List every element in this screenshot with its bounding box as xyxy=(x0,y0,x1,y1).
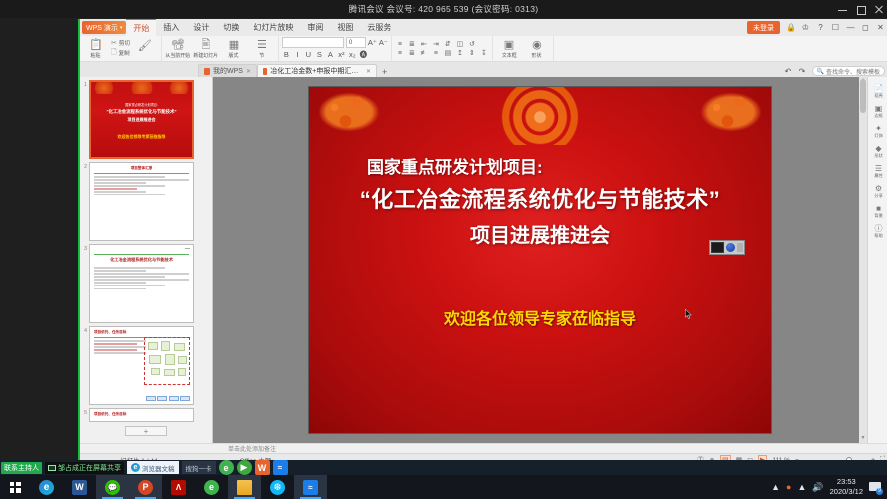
border-icon: ▣ xyxy=(875,104,883,113)
rail-item-background[interactable]: ■ 背景 xyxy=(869,204,887,219)
thumb-line xyxy=(94,273,189,274)
bold-button[interactable]: B xyxy=(282,50,291,59)
maximize-icon[interactable] xyxy=(856,5,865,14)
subscript-button[interactable]: x₂ xyxy=(348,50,357,59)
meeting-floating-video[interactable] xyxy=(709,240,745,255)
copy-label: 复制 xyxy=(119,49,130,57)
thumb-line xyxy=(94,191,146,192)
text-box-label: 文本框 xyxy=(501,51,516,58)
windows-taskbar: e W 💬 P Λ e ❆ ≈ ▲ ● ▲ 🔊 23:53 2020/3/12 xyxy=(0,475,887,499)
wps-logo[interactable]: WPS 演示 ▾ xyxy=(82,21,126,34)
cut-label: 剪切 xyxy=(119,39,130,47)
ornament-icon xyxy=(129,82,155,94)
taskbar-preview-sogou[interactable]: 搜狗一卡 xyxy=(182,461,216,474)
thumb-line xyxy=(94,270,146,271)
thumb-line xyxy=(94,188,137,189)
360browser-icon: e xyxy=(204,480,219,495)
thumb-diagram-boxes xyxy=(146,396,191,401)
tab-design[interactable]: 设计 xyxy=(186,19,216,36)
thumb-line-2: “化工冶金流程系统优化与节能技术” xyxy=(91,109,192,115)
taskbar-qq[interactable]: ❆ xyxy=(261,475,294,499)
slide-thumbnail-3[interactable]: ▬▬ 化工冶金流程系统优化与节能技术 xyxy=(89,244,194,323)
bullets-icon[interactable]: ≡ xyxy=(395,41,405,48)
taskbar-tencent-meeting[interactable]: ≈ xyxy=(294,475,327,499)
meeting-title: 腾讯会议 会议号: 420 965 539 (会议密码: 0313) xyxy=(349,3,539,15)
meeting-window-controls xyxy=(838,0,883,18)
text-box-icon: ▣ xyxy=(504,39,514,51)
taskbar-edge[interactable]: e xyxy=(30,475,63,499)
thumbnail-row: 2 项目整体汇报 xyxy=(80,159,212,241)
thumb-line-3: 项目进展推进会 xyxy=(91,117,192,123)
thumb-white-slide: 项目依托、任务目标 xyxy=(90,409,193,421)
restore-icon[interactable]: ☐ xyxy=(831,23,840,32)
wps-main-area: 1 国家重点研发计划项目: “化工冶金流程系统优化与节能技术” 项目进展推进会 … xyxy=(80,77,887,443)
paste-icon: 📋 xyxy=(89,39,103,51)
align-left-icon[interactable]: ≡ xyxy=(395,50,405,57)
doc-tab-label: 冶化工冶金数+申报中期汇报20180324.ppt xyxy=(270,66,363,76)
tab-start[interactable]: 开始 xyxy=(126,19,156,36)
start-button[interactable] xyxy=(0,475,30,499)
divider xyxy=(94,254,189,255)
thumb-line xyxy=(94,176,165,177)
thumb-line xyxy=(94,346,146,347)
system-tray: ▲ ● ▲ 🔊 23:53 2020/3/12 9 xyxy=(771,477,887,497)
tencent-meeting-window: 腾讯会议 会议号: 420 965 539 (会议密码: 0313) WPS 演… xyxy=(0,0,887,460)
decoration-icon: ✦ xyxy=(875,124,882,133)
paragraph-row-top: ≡ ≣ ⇤ ⇥ ⇵ ◫ ↺ xyxy=(395,40,489,48)
ribbon-group-drawing: ▣ 文本框 ◉ 形状 xyxy=(493,36,554,62)
rail-label: 分享 xyxy=(874,193,882,199)
scrollbar-thumb[interactable] xyxy=(860,79,866,113)
thumb-white-slide: ▬▬ 化工冶金流程系统优化与节能技术 xyxy=(90,245,193,322)
font-controls: 0 A⁺ A⁻ B I U S A x² x₂ 🅐 xyxy=(282,37,388,60)
thumb-line xyxy=(94,288,146,289)
line-spacing-icon[interactable]: ⇵ xyxy=(443,40,453,48)
copy-icon: 🗋 xyxy=(111,48,117,59)
font-row-top: 0 A⁺ A⁻ xyxy=(282,37,388,48)
rail-label: 属性 xyxy=(874,173,882,179)
decrease-indent-icon[interactable]: ⇤ xyxy=(419,40,429,48)
notes-placeholder: 单击此处添加备注 xyxy=(228,444,276,453)
wps-ribbon-tabstrip: WPS 演示 ▾ 开始 插入 设计 切换 幻灯片放映 审阅 视图 云服务 未登录… xyxy=(80,19,887,36)
rail-item-docer[interactable]: 📄 稻壳 xyxy=(869,84,887,99)
word-icon: W xyxy=(72,480,87,495)
document-tabbar: 我的WPS ✕ 冶化工冶金数+申报中期汇报20180324.ppt ✕ + ↶ … xyxy=(80,62,887,77)
justify-icon[interactable]: ≡ xyxy=(431,50,441,57)
align-middle-icon[interactable]: ⇕ xyxy=(467,49,477,57)
divider xyxy=(94,173,189,174)
slide-welcome-text[interactable]: 欢迎各位领导专家莅临指导 xyxy=(309,305,771,329)
thumb-line xyxy=(94,179,189,180)
align-top-icon[interactable]: ↥ xyxy=(455,49,465,57)
slide-scrollbar[interactable]: ▲ ▼ xyxy=(859,77,867,443)
thumb-title: 项目依托、任务目标 xyxy=(94,412,189,417)
right-tool-rail: ▲ ▼ 📄 稻壳 ▣ 边框 ✦ 灯饰 ◆ 形状 xyxy=(867,77,887,443)
taskbar-word[interactable]: W xyxy=(63,475,96,499)
thumb-corner-note: ▬▬ xyxy=(185,247,190,250)
ppt-file-icon xyxy=(263,68,267,75)
thumb-line xyxy=(94,352,146,353)
properties-icon: ☰ xyxy=(875,164,882,173)
new-slide-label: 新建幻灯片 xyxy=(194,51,219,58)
font-color-button[interactable]: A xyxy=(326,50,335,59)
copy-button[interactable]: 🗋 复制 xyxy=(111,48,130,59)
thumb-line xyxy=(94,182,146,183)
thumb-line xyxy=(94,349,137,350)
thumb-line xyxy=(94,194,165,195)
clock-time: 23:53 xyxy=(837,477,856,487)
meeting-left-filler xyxy=(0,18,78,460)
edge-icon: e xyxy=(39,480,54,495)
thumb-line xyxy=(94,282,146,283)
thumbnail-number: 5 xyxy=(82,408,89,422)
monitor-icon xyxy=(48,465,56,471)
rail-item-decoration[interactable]: ✦ 灯饰 xyxy=(869,124,887,139)
align-right-icon[interactable]: ≢ xyxy=(419,50,429,57)
video-preview xyxy=(711,242,724,253)
wps-logo-label: WPS 演示 xyxy=(86,23,118,33)
rail-label: 帮助 xyxy=(874,233,882,239)
paragraph-row-bottom: ≡ ≣ ≢ ≡ ▤ ↥ ⇕ ↧ xyxy=(395,49,489,57)
rail-item-share[interactable]: ⚙ 分享 xyxy=(869,184,887,199)
thumb-line-1: 国家重点研发计划项目: xyxy=(91,102,192,107)
from-current-label: 从当前开始 xyxy=(166,51,191,58)
paintbrush-icon: 🖌 xyxy=(138,40,152,52)
video-controls-handle[interactable] xyxy=(737,243,743,252)
cut-button[interactable]: ✂ 剪切 xyxy=(111,39,130,47)
powerpoint-icon: P xyxy=(138,480,153,495)
rail-label: 灯饰 xyxy=(874,133,882,139)
wps-ribbon: 📋 粘贴 ✂ 剪切 🗋 复制 🖌 xyxy=(80,36,887,62)
tencent-meeting-icon[interactable]: ≈ xyxy=(273,460,288,475)
increase-indent-icon[interactable]: ⇥ xyxy=(431,40,441,48)
projector-icon: 📽 xyxy=(171,39,185,51)
thumb-title: 项目依托、任务目标 xyxy=(94,330,189,335)
italic-button[interactable]: I xyxy=(293,50,302,59)
increase-font-size-icon[interactable]: A⁺ xyxy=(368,38,377,47)
edge-icon: e xyxy=(131,463,140,472)
tab-review[interactable]: 审阅 xyxy=(300,19,330,36)
taskbar-wechat[interactable]: 💬 xyxy=(96,475,129,499)
mouse-cursor-icon xyxy=(685,309,692,319)
font-row-bottom: B I U S A x² x₂ 🅐 xyxy=(282,49,388,60)
meeting-titlebar: 腾讯会议 会议号: 420 965 539 (会议密码: 0313) xyxy=(0,0,887,18)
ornament-icon xyxy=(695,89,767,135)
screen-share-indicator[interactable]: 邹占成正在屏幕共享 xyxy=(45,462,124,474)
shape-icon: ◉ xyxy=(532,39,542,51)
doc-tab-mywps[interactable]: 我的WPS ✕ xyxy=(198,64,257,77)
close-icon[interactable]: ✕ xyxy=(366,68,371,75)
windows-logo-icon xyxy=(10,482,21,493)
slide-main-title[interactable]: “化工冶金流程系统优化与节能技术” xyxy=(309,182,771,214)
slide-subtitle-line[interactable]: 国家重点研发计划项目: xyxy=(367,153,543,178)
font-size-input[interactable]: 0 xyxy=(346,37,366,48)
new-slide-button[interactable]: 🖹 新建幻灯片 xyxy=(193,39,219,59)
ornament-icon xyxy=(313,89,385,135)
notification-center-button[interactable]: 9 xyxy=(869,481,882,494)
avatar xyxy=(726,243,735,252)
rail-item-help[interactable]: ⓘ 帮助 xyxy=(869,224,887,239)
undo-icon[interactable]: ↶ xyxy=(784,67,793,76)
thumb-line xyxy=(94,340,146,341)
ornament-icon xyxy=(168,82,190,94)
rail-label: 形状 xyxy=(874,153,882,159)
help-icon[interactable]: ? xyxy=(816,23,825,32)
close-icon[interactable]: ✕ xyxy=(876,23,885,32)
qq-icon: ❆ xyxy=(270,480,285,495)
rail-item-properties[interactable]: ☰ 属性 xyxy=(869,164,887,179)
tab-view[interactable]: 视图 xyxy=(330,19,360,36)
rail-label: 稻壳 xyxy=(874,93,882,99)
align-bottom-icon[interactable]: ↧ xyxy=(479,49,489,57)
ornament-icon xyxy=(93,82,115,94)
clear-formatting-button[interactable]: 🅐 xyxy=(359,49,368,60)
columns-icon[interactable]: ◫ xyxy=(455,40,465,48)
tab-slideshow[interactable]: 幻灯片放映 xyxy=(246,19,300,36)
taskbar-preview-label: 搜狗一卡 xyxy=(186,463,212,473)
thumb-line-4: 欢迎各位领导专家莅临指导 xyxy=(91,134,192,140)
wps-presentation-window: WPS 演示 ▾ 开始 插入 设计 切换 幻灯片放映 审阅 视图 云服务 未登录… xyxy=(78,19,887,460)
close-icon[interactable] xyxy=(874,5,883,14)
search-placeholder: 查找命令、搜索模板 xyxy=(826,67,880,76)
scroll-down-icon[interactable]: ▼ xyxy=(859,435,867,443)
rail-label: 背景 xyxy=(874,213,882,219)
thumb-red-slide: 国家重点研发计划项目: “化工冶金流程系统优化与节能技术” 项目进展推进会 欢迎… xyxy=(91,82,192,157)
thumbnail-number: 2 xyxy=(82,162,89,241)
maximize-icon[interactable]: ◻ xyxy=(861,23,870,32)
ribbon-group-font: 0 A⁺ A⁻ B I U S A x² x₂ 🅐 xyxy=(279,36,392,62)
section-label: 节 xyxy=(259,51,264,58)
tab-insert[interactable]: 插入 xyxy=(156,19,186,36)
thumb-line xyxy=(94,185,165,186)
folder-icon xyxy=(237,480,252,495)
taskbar-preview-label: 浏览器文稿 xyxy=(142,463,175,473)
thumbnail-number: 1 xyxy=(82,80,89,159)
shape-button[interactable]: ◉ 形状 xyxy=(524,39,550,59)
paste-button[interactable]: 📋 粘贴 xyxy=(83,39,109,59)
distribute-icon[interactable]: ▤ xyxy=(443,49,453,57)
show-hidden-icons-icon[interactable]: ▲ xyxy=(771,482,780,492)
thumb-diagram-slide: 项目依托、任务目标 xyxy=(90,327,193,404)
taskbar-preview-browser[interactable]: e 浏览器文稿 xyxy=(127,461,179,474)
docer-icon: 📄 xyxy=(874,84,884,93)
clipboard-small-commands: ✂ 剪切 🗋 复制 xyxy=(111,39,130,59)
align-center-icon[interactable]: ≣ xyxy=(407,49,417,57)
clock-date: 2020/3/12 xyxy=(830,487,863,497)
volume-icon[interactable]: 🔊 xyxy=(812,482,823,493)
new-tab-button[interactable]: + xyxy=(377,67,392,77)
thumb-line xyxy=(94,285,165,286)
thumbnail-number: 4 xyxy=(82,326,89,405)
section-button[interactable]: ☰ 节 xyxy=(249,39,275,59)
redo-icon[interactable]: ↷ xyxy=(798,67,807,76)
close-icon[interactable]: ✕ xyxy=(246,68,251,75)
thumb-title: 项目整体汇报 xyxy=(94,166,189,171)
network-icon[interactable]: ▲ xyxy=(797,482,806,492)
media-player-icon[interactable]: ▶ xyxy=(237,460,252,475)
taskbar-pdf[interactable]: Λ xyxy=(162,475,195,499)
rail-item-border[interactable]: ▣ 边框 xyxy=(869,104,887,119)
thumb-line xyxy=(94,276,165,277)
layout-button[interactable]: ▦ 版式 xyxy=(221,39,247,59)
slide-thumbnail-5[interactable]: 项目依托、任务目标 xyxy=(89,408,194,422)
wechat-icon: 💬 xyxy=(105,480,120,495)
ribbon-group-paragraph: ≡ ≣ ⇤ ⇥ ⇵ ◫ ↺ ≡ ≣ ≢ ≡ ▤ ↥ xyxy=(392,36,493,62)
taskbar-360browser[interactable]: e xyxy=(195,475,228,499)
slide-thumbnail-4[interactable]: 项目依托、任务目标 xyxy=(89,326,194,405)
thumb-line xyxy=(94,343,137,344)
search-box[interactable]: 🔍 查找命令、搜索模板 xyxy=(812,66,886,76)
minimize-icon[interactable] xyxy=(838,5,847,14)
format-painter-button[interactable]: 🖌 xyxy=(132,40,158,58)
thumb-line xyxy=(94,279,189,280)
paragraph-controls: ≡ ≣ ⇤ ⇥ ⇵ ◫ ↺ ≡ ≣ ≢ ≡ ▤ ↥ xyxy=(395,40,489,57)
search-icon: 🔍 xyxy=(817,68,824,75)
strikethrough-button[interactable]: S xyxy=(315,50,324,59)
tray-app-icon[interactable]: ● xyxy=(786,482,791,492)
font-name-input[interactable] xyxy=(282,37,344,48)
slide-thumbnail-1[interactable]: 国家重点研发计划项目: “化工冶金流程系统优化与节能技术” 项目进展推进会 欢迎… xyxy=(89,80,194,159)
new-slide-icon: 🖹 xyxy=(201,39,210,51)
thumbnail-row: 5 项目依托、任务目标 xyxy=(80,405,212,422)
add-slide-button[interactable]: + xyxy=(125,426,167,436)
thumbnail-row: 3 ▬▬ 化工冶金流程系统优化与节能技术 xyxy=(80,241,212,323)
minimize-icon[interactable]: — xyxy=(846,23,855,32)
current-slide[interactable]: 国家重点研发计划项目: “化工冶金流程系统优化与节能技术” 项目进展推进会 欢迎… xyxy=(309,87,771,433)
underline-button[interactable]: U xyxy=(304,50,313,59)
crown-icon[interactable]: ♔ xyxy=(801,23,810,32)
taskbar-powerpoint[interactable]: P xyxy=(129,475,162,499)
thumbnail-number: 3 xyxy=(82,244,89,323)
doc-tab-presentation[interactable]: 冶化工冶金数+申报中期汇报20180324.ppt ✕ xyxy=(257,64,377,77)
text-direction-icon[interactable]: ↺ xyxy=(467,40,477,48)
thumbnail-row: 1 国家重点研发计划项目: “化工冶金流程系统优化与节能技术” 项目进展推进会 … xyxy=(80,77,212,159)
thumb-line xyxy=(94,267,165,268)
docbar-right-tools: ↶ ↷ 🔍 查找命令、搜索模板 xyxy=(784,66,887,77)
notes-pane[interactable]: 单击此处添加备注 xyxy=(80,443,887,453)
slide-canvas-area: 国家重点研发计划项目: “化工冶金流程系统优化与节能技术” 项目进展推进会 欢迎… xyxy=(213,77,867,443)
shape-icon: ◆ xyxy=(875,144,881,153)
thumb-title: 化工冶金流程系统优化与节能技术 xyxy=(94,257,189,263)
rail-item-shape[interactable]: ◆ 形状 xyxy=(869,144,887,159)
lock-icon[interactable]: 🔒 xyxy=(786,23,795,32)
layout-label: 版式 xyxy=(229,51,239,58)
ornament-icon xyxy=(480,87,600,145)
scissors-icon: ✂ xyxy=(111,39,117,47)
section-icon: ☰ xyxy=(257,39,267,51)
share-indicator-label: 邹占成正在屏幕共享 xyxy=(58,463,121,473)
share-icon: ⚙ xyxy=(875,184,882,193)
paste-label: 粘贴 xyxy=(91,51,101,58)
slide-thumbnail-panel[interactable]: 1 国家重点研发计划项目: “化工冶金流程系统优化与节能技术” 项目进展推进会 … xyxy=(80,77,213,443)
text-box-button[interactable]: ▣ 文本框 xyxy=(496,39,522,59)
wps-icon[interactable]: W xyxy=(255,460,270,475)
rail-label: 边框 xyxy=(874,113,882,119)
ribbon-group-slides: 📽 从当前开始 🖹 新建幻灯片 ▦ 版式 ☰ 节 xyxy=(162,36,279,62)
slide-thumbnail-2[interactable]: 项目整体汇报 xyxy=(89,162,194,241)
clock[interactable]: 23:53 2020/3/12 xyxy=(830,477,863,497)
thumbnail-row: 4 项目依托、任务目标 xyxy=(80,323,212,405)
wps-titlebar-right: 未登录 🔒 ♔ ? ☐ — ◻ ✕ xyxy=(747,21,887,34)
thumb-white-slide: 项目整体汇报 xyxy=(90,163,193,240)
login-button[interactable]: 未登录 xyxy=(747,21,780,34)
help-icon: ⓘ xyxy=(875,224,883,233)
pdf-icon: Λ xyxy=(171,480,186,495)
chevron-down-icon: ▾ xyxy=(120,25,123,31)
ribbon-group-clipboard: 📋 粘贴 ✂ 剪切 🗋 复制 🖌 xyxy=(80,36,162,62)
background-icon: ■ xyxy=(876,204,881,213)
shape-label: 形状 xyxy=(532,51,542,58)
contact-host-button[interactable]: 联系主持人 xyxy=(1,462,42,474)
thumb-diagram xyxy=(144,337,190,385)
notification-count: 9 xyxy=(876,488,883,495)
tencent-meeting-icon: ≈ xyxy=(303,480,318,495)
360browser-icon[interactable]: e xyxy=(219,460,234,475)
tab-cloud[interactable]: 云服务 xyxy=(360,19,398,36)
numbering-icon[interactable]: ≣ xyxy=(407,40,417,48)
wps-file-icon xyxy=(204,68,210,75)
taskbar-explorer[interactable] xyxy=(228,475,261,499)
decrease-font-size-icon[interactable]: A⁻ xyxy=(379,38,388,47)
layout-icon: ▦ xyxy=(229,39,239,51)
doc-tab-label: 我的WPS xyxy=(213,66,243,76)
meeting-share-bar: 联系主持人 邹占成正在屏幕共享 e 浏览器文稿 搜狗一卡 e ▶ W ≈ xyxy=(0,460,887,475)
slide-event-title[interactable]: 项目进展推进会 xyxy=(309,219,771,248)
start-from-current-button[interactable]: 📽 从当前开始 xyxy=(165,39,191,59)
superscript-button[interactable]: x² xyxy=(337,50,346,59)
tab-transition[interactable]: 切换 xyxy=(216,19,246,36)
